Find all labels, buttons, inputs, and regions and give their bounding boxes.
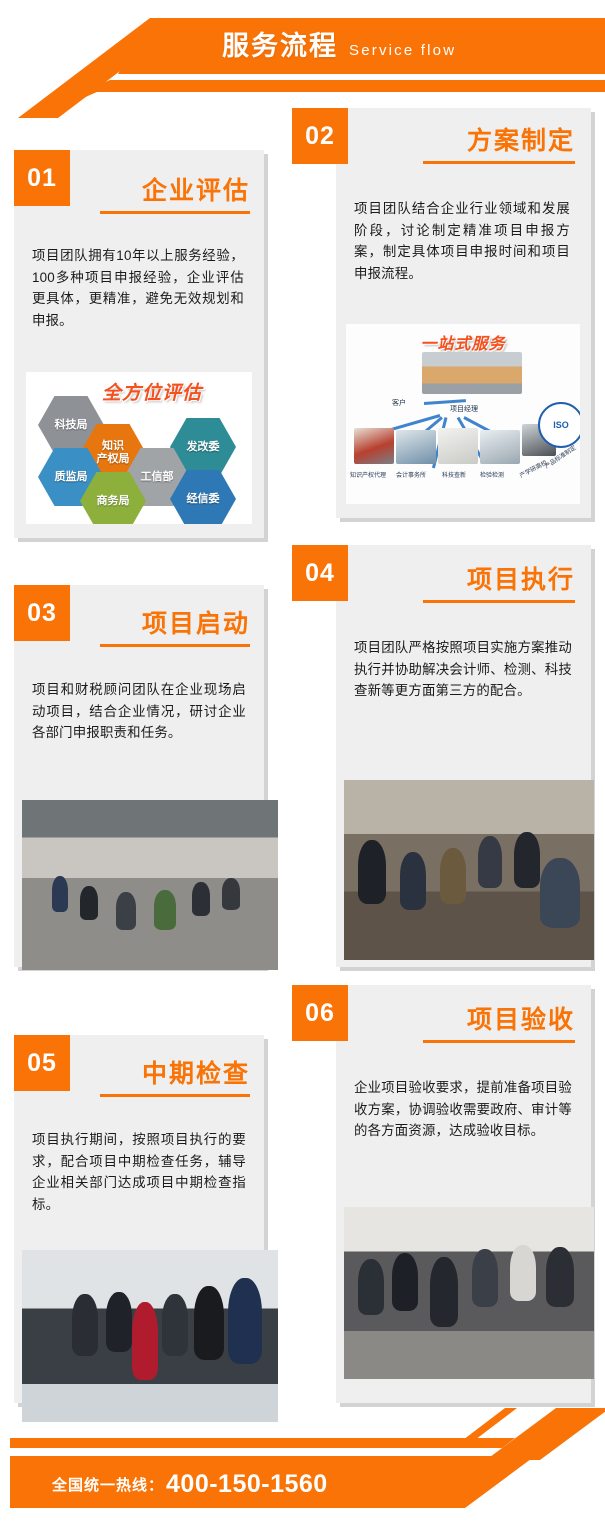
process-card-02: 方案制定 项目团队结合企业行业领域和发展阶段，讨论制定精准项目申报方案，制定具体… [336,108,591,518]
card-02-onestop-diagram: 一站式服务 客户 项目经理 ISO 知识产权代理 会计事务所 科技查新 检验检测… [346,324,580,504]
card-01-number-badge: 01 [14,150,70,206]
card-03-title-rule [100,644,250,647]
card-04-number-badge: 04 [292,545,348,601]
card-03-heading: 项目启动 [100,609,250,647]
onestop-iso-seal: ISO [538,402,580,448]
card-01-body: 项目团队拥有10年以上服务经验，100多种项目申报经验，企业评估更具体，更精准，… [32,245,244,331]
onestop-photo-3 [480,430,520,464]
process-card-06: 项目验收 企业项目验收要求，提前准备项目验收方案，协调验收需要政府、审计等的各方… [336,985,591,1403]
card-05-photo [22,1250,278,1422]
card-02-title: 方案制定 [467,126,575,156]
hex-node-4-label: 工信部 [141,471,174,484]
card-06-photo [344,1207,594,1379]
hex-node-5-label: 商务局 [97,495,130,508]
page-title-en: Service flow [349,41,456,61]
process-card-01: 企业评估 项目团队拥有10年以上服务经验，100多种项目申报经验，企业评估更具体… [14,150,264,538]
hex-node-2-label: 发改委 [187,441,220,454]
iso-seal-label: ISO [553,420,569,430]
card-01-title-rule [100,211,250,214]
card-05-heading: 中期检查 [100,1059,250,1097]
card-05-body: 项目执行期间，按照项目执行的要求，配合项目中期检查任务，辅导企业相关部门达成项目… [32,1129,246,1215]
hex-node-0-label: 科技局 [55,419,88,432]
card-05-number: 05 [27,1049,57,1078]
hex-node-3-label: 质监局 [55,471,88,484]
card-05-number-badge: 05 [14,1035,70,1091]
page-title-cn: 服务流程 [222,28,338,64]
card-04-body: 项目团队严格按照项目实施方案推动执行并协助解决会计师、检测、科技查新等更方面第三… [354,637,572,702]
page-header: 服务流程 Service flow [0,0,605,118]
onestop-hero-photo [422,352,522,394]
onestop-photo-1 [396,430,436,464]
card-06-number: 06 [305,999,335,1028]
hex-node-1-label: 知识产权局 [97,440,130,466]
onestop-photo-2 [438,428,478,464]
page-footer: 全国统一热线： 400-150-1560 [0,1408,605,1538]
card-04-title: 项目执行 [467,565,575,595]
card-06-title-rule [423,1040,575,1043]
footer-hotline-number[interactable]: 400-150-1560 [166,1470,328,1499]
card-06-heading: 项目验收 [423,1005,575,1043]
card-02-body: 项目团队结合企业行业领域和发展阶段，讨论制定精准项目申报方案，制定具体项目申报时… [354,198,570,284]
onestop-caption-2: 科技查新 [442,470,466,479]
process-card-04: 项目执行 项目团队严格按照项目实施方案推动执行并协助解决会计师、检测、科技查新等… [336,545,591,967]
card-05-title-rule [100,1094,250,1097]
onestop-photo-0 [354,428,394,464]
card-05-title: 中期检查 [142,1059,250,1089]
card-02-number: 02 [305,122,335,151]
footer-hotline: 全国统一热线： 400-150-1560 [52,1470,328,1499]
card-04-photo [344,780,594,960]
process-card-03: 项目启动 项目和财税顾问团队在企业现场启动项目，结合企业情况，研讨企业各部门申报… [14,585,264,967]
card-01-title: 企业评估 [142,176,250,206]
onestop-node-customer: 客户 [392,398,406,408]
card-02-number-badge: 02 [292,108,348,164]
card-03-photo [22,800,278,970]
hex-diagram-title: 全方位评估 [102,378,202,405]
card-02-title-rule [423,161,575,164]
card-02-heading: 方案制定 [423,126,575,164]
onestop-caption-1: 会计事务所 [396,470,426,479]
card-04-title-rule [423,600,575,603]
footer-hotline-label: 全国统一热线： [52,1474,164,1495]
card-03-title: 项目启动 [142,609,250,639]
card-06-title: 项目验收 [467,1005,575,1035]
onestop-caption-3: 检验检测 [480,470,504,479]
card-04-number: 04 [305,559,335,588]
card-03-number-badge: 03 [14,585,70,641]
onestop-title: 一站式服务 [420,330,505,354]
onestop-node-manager: 项目经理 [450,404,478,414]
hex-node-6-label: 经信委 [187,493,220,506]
card-01-number: 01 [27,164,57,193]
card-03-number: 03 [27,599,57,628]
onestop-caption-0: 知识产权代理 [350,470,386,479]
card-06-number-badge: 06 [292,985,348,1041]
page-title: 服务流程 Service flow [222,28,456,64]
card-03-body: 项目和财税顾问团队在企业现场启动项目，结合企业情况，研讨企业各部门申报职责和任务… [32,679,246,744]
card-04-heading: 项目执行 [423,565,575,603]
card-06-body: 企业项目验收要求，提前准备项目验收方案，协调验收需要政府、审计等的各方面资源，达… [354,1077,572,1142]
card-01-heading: 企业评估 [100,176,250,214]
card-01-hexagon-diagram: 全方位评估 科技局 知识产权局 发改委 质监局 工信部 商务局 经信委 [26,372,252,524]
